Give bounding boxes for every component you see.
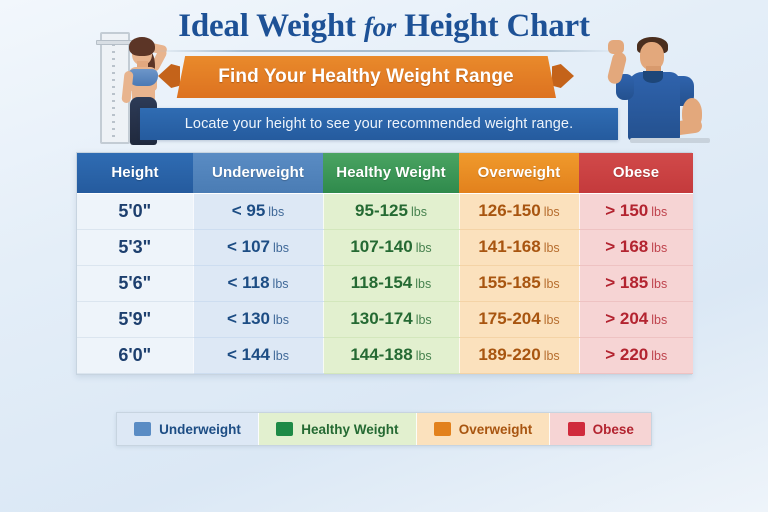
table-body: 5'0"< 95lbs95-125lbs126-150lbs> 150lbs5'… [77,193,693,373]
cell-overweight-value: 155-185 [478,273,540,292]
cell-underweight-value: < 107 [227,237,270,256]
cell-overweight: 155-185lbs [459,265,579,301]
weight-chart-table-container: Height Underweight Healthy Weight Overwe… [76,152,692,375]
legend-item-underweight[interactable]: Underweight [117,413,259,445]
unit-label: lbs [651,313,667,327]
table-row[interactable]: 5'9"< 130lbs130-174lbs175-204lbs> 204lbs [77,301,693,337]
page-title-part-2: Height Chart [396,8,590,44]
unit-label: lbs [651,349,667,363]
cell-obese-value: > 185 [605,273,648,292]
cell-height-value: 5'3" [118,237,151,257]
cell-height: 6'0" [77,337,193,373]
headline-banner: Find Your Healthy Weight Range [176,56,556,98]
unit-label: lbs [273,313,289,327]
cell-overweight-value: 141-168 [478,237,540,256]
cell-healthy-value: 107-140 [350,237,412,256]
cell-healthy: 118-154lbs [323,265,459,301]
table-row[interactable]: 6'0"< 144lbs144-188lbs189-220lbs> 220lbs [77,337,693,373]
table-header: Height Underweight Healthy Weight Overwe… [77,153,693,193]
page-title: Ideal Weight for Height Chart [0,8,768,45]
table-row[interactable]: 5'6"< 118lbs118-154lbs155-185lbs> 185lbs [77,265,693,301]
cell-obese-value: > 220 [605,345,648,364]
cell-height-value: 5'9" [118,309,151,329]
cell-obese-value: > 204 [605,309,648,328]
cell-underweight: < 118lbs [193,265,323,301]
cell-underweight: < 95lbs [193,193,323,229]
cell-healthy: 107-140lbs [323,229,459,265]
column-header-overweight[interactable]: Overweight [459,153,579,193]
unit-label: lbs [416,313,432,327]
legend-item-obese[interactable]: Obese [550,413,651,445]
title-divider [150,50,620,52]
legend-label: Underweight [159,422,241,437]
cell-height-value: 6'0" [118,345,151,365]
cell-underweight: < 107lbs [193,229,323,265]
cell-height: 5'0" [77,193,193,229]
legend-swatch-icon [434,422,451,436]
cell-height: 5'3" [77,229,193,265]
legend-label: Obese [593,422,634,437]
legend-swatch-icon [134,422,151,436]
cell-healthy-value: 118-154 [351,273,412,292]
cell-underweight-value: < 130 [227,309,270,328]
subtitle-bar: Locate your height to see your recommend… [140,108,618,140]
cell-height-value: 5'0" [118,201,151,221]
unit-label: lbs [268,205,284,219]
unit-label: lbs [411,205,427,219]
weight-chart-table: Height Underweight Healthy Weight Overwe… [77,153,693,374]
unit-label: lbs [273,349,289,363]
table-header-row: Height Underweight Healthy Weight Overwe… [77,153,693,193]
column-header-underweight[interactable]: Underweight [193,153,323,193]
cell-overweight-value: 175-204 [478,309,540,328]
column-header-healthy-weight[interactable]: Healthy Weight [323,153,459,193]
legend: UnderweightHealthy WeightOverweightObese [116,412,652,446]
cell-obese: > 204lbs [579,301,693,337]
cell-height: 5'6" [77,265,193,301]
cell-healthy-value: 130-174 [350,309,412,328]
unit-label: lbs [544,241,560,255]
unit-label: lbs [651,241,667,255]
cell-healthy: 95-125lbs [323,193,459,229]
cell-overweight: 141-168lbs [459,229,579,265]
banner-label: Find Your Healthy Weight Range [218,66,513,88]
cell-overweight-value: 189-220 [478,345,540,364]
cell-underweight-value: < 118 [227,273,269,292]
cell-height-value: 5'6" [118,273,151,293]
legend-label: Overweight [459,422,533,437]
page-title-part-1: Ideal Weight [178,8,364,44]
cell-overweight-value: 126-150 [478,201,540,220]
header-block: Ideal Weight for Height Chart Find Your … [0,0,768,146]
table-row[interactable]: 5'0"< 95lbs95-125lbs126-150lbs> 150lbs [77,193,693,229]
unit-label: lbs [415,277,431,291]
legend-swatch-icon [276,422,293,436]
cell-obese: > 168lbs [579,229,693,265]
cell-underweight-value: < 95 [232,201,266,220]
unit-label: lbs [273,241,289,255]
cell-healthy: 144-188lbs [323,337,459,373]
banner-container: Find Your Healthy Weight Range [0,56,768,102]
column-header-height[interactable]: Height [77,153,193,193]
cell-healthy: 130-174lbs [323,301,459,337]
legend-label: Healthy Weight [301,422,398,437]
cell-underweight: < 144lbs [193,337,323,373]
cell-overweight: 126-150lbs [459,193,579,229]
unit-label: lbs [544,205,560,219]
cell-obese-value: > 150 [605,201,648,220]
unit-label: lbs [544,313,560,327]
cell-healthy-value: 144-188 [350,345,412,364]
cell-healthy-value: 95-125 [355,201,408,220]
cell-height: 5'9" [77,301,193,337]
cell-obese: > 150lbs [579,193,693,229]
legend-swatch-icon [568,422,585,436]
cell-overweight: 175-204lbs [459,301,579,337]
unit-label: lbs [416,241,432,255]
cell-underweight-value: < 144 [227,345,270,364]
page-title-italic-for: for [364,12,396,42]
cell-obese: > 185lbs [579,265,693,301]
unit-label: lbs [544,277,560,291]
ribbon-tail-right-icon [552,64,574,88]
cell-obese-value: > 168 [605,237,648,256]
unit-label: lbs [651,205,667,219]
ribbon-tail-left-icon [158,64,180,88]
cell-overweight: 189-220lbs [459,337,579,373]
cell-obese: > 220lbs [579,337,693,373]
subtitle-text: Locate your height to see your recommend… [185,116,573,132]
unit-label: lbs [273,277,289,291]
legend-item-healthy-weight[interactable]: Healthy Weight [259,413,417,445]
legend-item-overweight[interactable]: Overweight [417,413,551,445]
table-row[interactable]: 5'3"< 107lbs107-140lbs141-168lbs> 168lbs [77,229,693,265]
unit-label: lbs [544,349,560,363]
cell-underweight: < 130lbs [193,301,323,337]
unit-label: lbs [416,349,432,363]
unit-label: lbs [651,277,667,291]
column-header-obese[interactable]: Obese [579,153,693,193]
